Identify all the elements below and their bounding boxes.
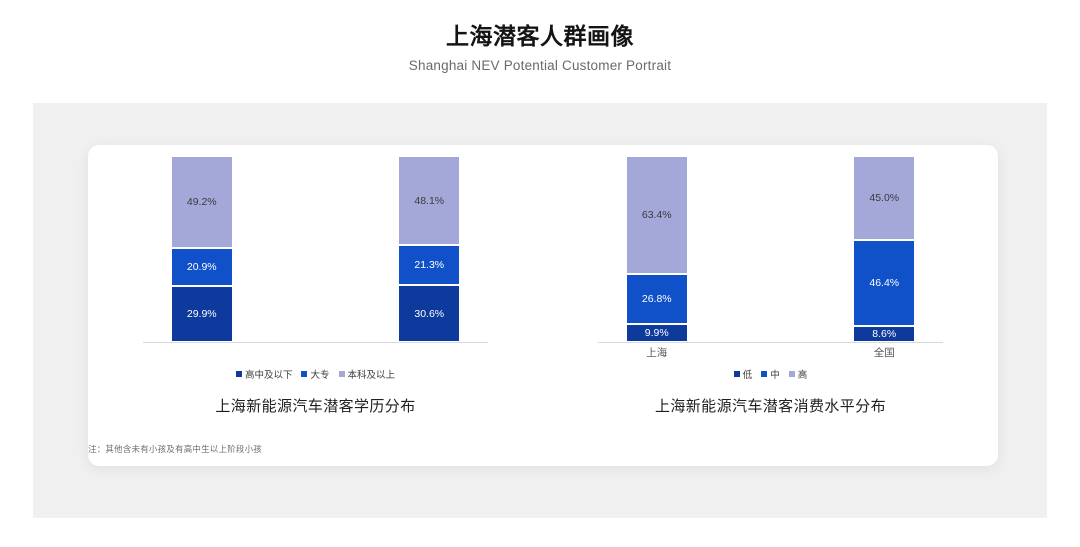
bar-segment: 49.2% [171,156,233,248]
bar-segment: 45.0% [853,156,915,240]
chart-consumption-level-distribution: 63.4%26.8%9.9%45.0%46.4%8.6% 上海全国 低中高 上海… [543,145,998,466]
bar-stack: 63.4%26.8%9.9% [626,156,688,342]
bar-segment: 9.9% [626,324,688,342]
bar-segment: 26.8% [626,274,688,324]
footnote: 注：其他含未有小孩及有高中生以上阶段小孩 [88,443,262,455]
chart-caption: 上海新能源汽车潜客学历分布 [88,395,543,416]
bar-segment: 46.4% [853,240,915,326]
plot-area: 63.4%26.8%9.9%45.0%46.4%8.6% [543,157,998,343]
chart-education-distribution: 49.2%20.9%29.9%48.1%21.3%30.6% 高中及以下大专本科… [88,145,543,466]
chart-legend: 高中及以下大专本科及以上 [88,367,543,381]
page-title: 上海潜客人群画像 [0,22,1080,51]
legend-label: 本科及以上 [348,367,396,381]
legend-item[interactable]: 大专 [301,367,329,381]
chart-legend: 低中高 [543,367,998,381]
legend-swatch-icon [789,371,795,377]
plot-area: 49.2%20.9%29.9%48.1%21.3%30.6% [88,157,543,343]
chart-card: 49.2%20.9%29.9%48.1%21.3%30.6% 高中及以下大专本科… [88,145,998,466]
legend-item[interactable]: 中 [761,367,780,381]
legend-item[interactable]: 高中及以下 [236,367,293,381]
bar-column: 49.2%20.9%29.9% [171,157,233,342]
bar-segment: 21.3% [398,245,460,285]
page-subtitle: Shanghai NEV Potential Customer Portrait [0,58,1080,73]
x-axis-line [143,342,489,343]
legend-label: 中 [770,367,780,381]
legend-swatch-icon [339,371,345,377]
legend-swatch-icon [761,371,767,377]
legend-label: 低 [743,367,753,381]
bar-stack: 45.0%46.4%8.6% [853,156,915,342]
legend-swatch-icon [734,371,740,377]
legend-swatch-icon [236,371,242,377]
bar-column: 63.4%26.8%9.9% [626,157,688,342]
bar-column: 48.1%21.3%30.6% [398,157,460,342]
bar-segment: 29.9% [171,286,233,342]
x-axis-line [598,342,944,343]
legend-item[interactable]: 本科及以上 [339,367,396,381]
charts-row: 49.2%20.9%29.9%48.1%21.3%30.6% 高中及以下大专本科… [88,145,998,466]
chart-caption: 上海新能源汽车潜客消费水平分布 [543,395,998,416]
bar-stack: 48.1%21.3%30.6% [398,156,460,342]
legend-swatch-icon [301,371,307,377]
x-tick-label: 全国 [853,345,915,360]
bar-group: 49.2%20.9%29.9%48.1%21.3%30.6% [88,157,543,342]
x-tick-labels: 上海全国 [543,345,998,360]
legend-label: 高中及以下 [245,367,293,381]
bar-column: 45.0%46.4%8.6% [853,157,915,342]
legend-item[interactable]: 高 [789,367,808,381]
bar-stack: 49.2%20.9%29.9% [171,156,233,342]
bar-segment: 30.6% [398,285,460,342]
legend-label: 高 [798,367,808,381]
page-header: 上海潜客人群画像 Shanghai NEV Potential Customer… [0,0,1080,73]
bar-segment: 63.4% [626,156,688,274]
bar-group: 63.4%26.8%9.9%45.0%46.4%8.6% [543,157,998,342]
bar-segment: 8.6% [853,326,915,342]
bar-segment: 20.9% [171,248,233,287]
slide-panel: 49.2%20.9%29.9%48.1%21.3%30.6% 高中及以下大专本科… [33,103,1047,518]
legend-item[interactable]: 低 [734,367,753,381]
x-tick-label: 上海 [626,345,688,360]
legend-label: 大专 [310,367,329,381]
bar-segment: 48.1% [398,156,460,245]
